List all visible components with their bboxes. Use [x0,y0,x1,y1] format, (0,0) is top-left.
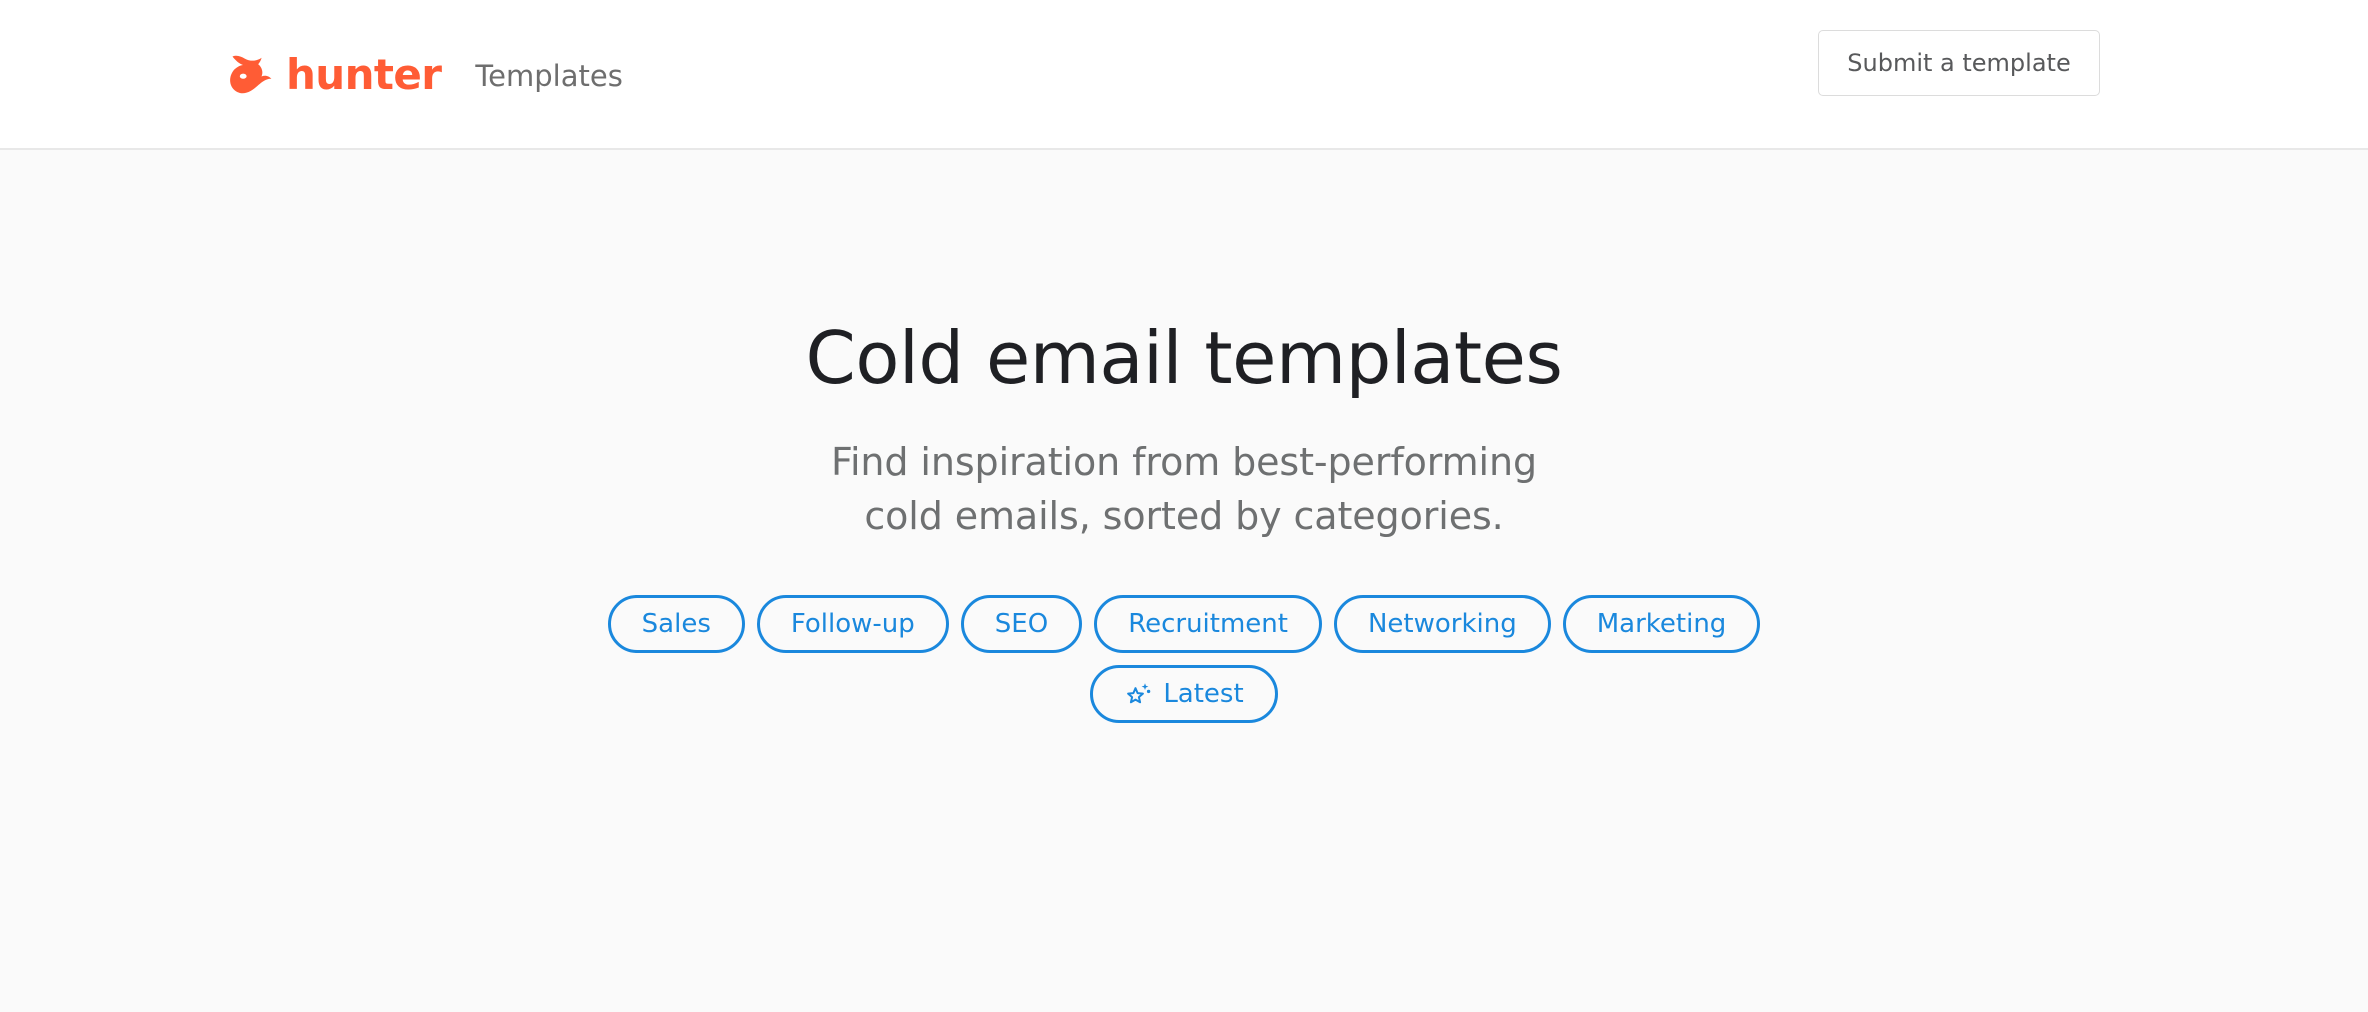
category-pill-label: Sales [642,611,711,637]
subtitle-line-2: cold emails, sorted by categories. [0,490,2368,544]
submit-template-button[interactable]: Submit a template [1818,30,2100,96]
subtitle-line-1: Find inspiration from best-performing [0,436,2368,490]
fox-head-logo-icon [226,54,272,94]
brand-wordmark: hunter [286,54,441,96]
category-pill-marketing[interactable]: Marketing [1563,595,1761,653]
category-pill-label: Networking [1368,611,1517,637]
category-pill-label: Recruitment [1128,611,1288,637]
category-pill-networking[interactable]: Networking [1334,595,1551,653]
category-pill-latest[interactable]: Latest [1090,665,1277,723]
category-row-secondary: Latest [0,665,2368,723]
hero-section: Cold email templates Find inspiration fr… [0,150,2368,1012]
page-subtitle: Find inspiration from best-performing co… [0,436,2368,544]
page-title: Cold email templates [0,322,2368,394]
site-header: hunter Templates Submit a template [0,0,2368,150]
sparkle-star-icon [1124,678,1154,708]
category-pill-sales[interactable]: Sales [608,595,745,653]
category-pill-label: Marketing [1597,611,1727,637]
category-pill-label: Latest [1163,681,1243,707]
category-pill-follow-up[interactable]: Follow-up [757,595,949,653]
category-filter-list: Sales Follow-up SEO Recruitment Networki… [0,595,2368,723]
category-pill-recruitment[interactable]: Recruitment [1094,595,1322,653]
brand-logo[interactable]: hunter Templates [226,53,623,95]
header-actions: Submit a template [1818,30,2100,96]
category-pill-label: SEO [995,611,1048,637]
brand-section-label: Templates [475,62,622,91]
category-row-primary: Sales Follow-up SEO Recruitment Networki… [0,595,2368,653]
category-pill-label: Follow-up [791,611,915,637]
category-pill-seo[interactable]: SEO [961,595,1082,653]
